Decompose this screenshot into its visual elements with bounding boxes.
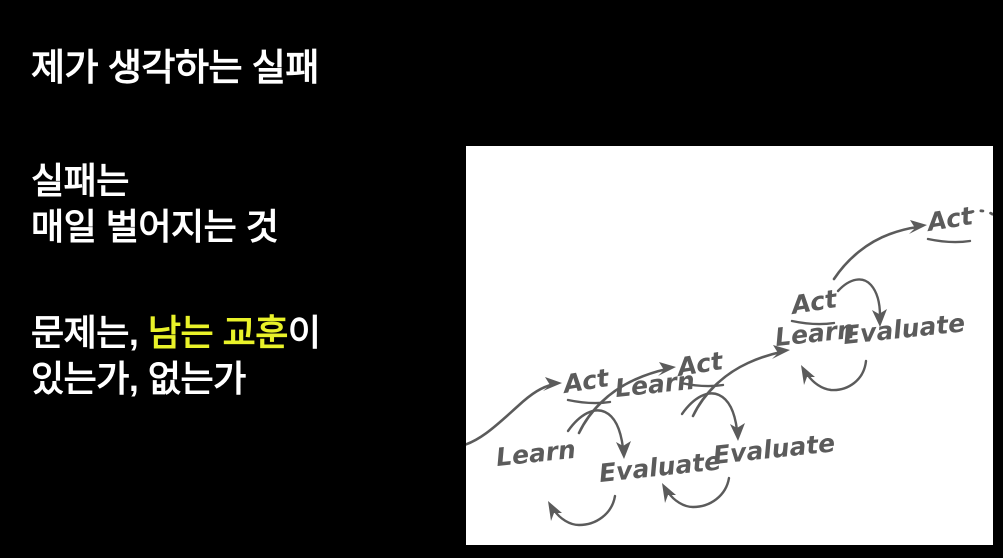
body-line-3-highlight: 남는 교훈 xyxy=(148,312,288,353)
body-line-3: 문제는, 남는 교훈이 xyxy=(31,310,441,356)
cycle-1-act-label: Act xyxy=(559,363,611,399)
cycle-1-act-to-evaluate-path xyxy=(568,410,623,448)
cycle-2-evaluate-label: Evaluate xyxy=(712,428,837,470)
cycle-2-evaluate-to-learn-path xyxy=(668,478,729,507)
cycle-3-act-to-evaluate-path xyxy=(838,279,880,316)
cycle-2-learn-label: Learn xyxy=(614,366,696,403)
entry-arrow-path xyxy=(466,384,554,446)
body-line-1: 실패는 xyxy=(31,158,441,204)
body-block-question: 문제는, 남는 교훈이 있는가, 없는가 xyxy=(31,310,441,402)
body-line-4: 있는가, 없는가 xyxy=(31,356,441,402)
cycle-3-act-label: Act xyxy=(787,284,839,320)
slide-canvas: 제가 생각하는 실패 실패는 매일 벌어지는 것 문제는, 남는 교훈이 있는가… xyxy=(0,0,1003,558)
continuation-dotted-path xyxy=(971,211,993,253)
cycle-3-learn-to-cycle-4-act-path xyxy=(834,227,918,279)
act-evaluate-learn-loop-diagram: Act Learn Evaluate Act Learn Evaluate xyxy=(466,146,993,545)
body-line-4-segment-1: 있는가, 없는가 xyxy=(31,358,246,399)
cycle-1-evaluate-to-learn-path xyxy=(554,496,615,525)
body-line-2: 매일 벌어지는 것 xyxy=(31,204,441,250)
body-line-3-segment-3: 이 xyxy=(288,312,321,353)
text-column: 제가 생각하는 실패 실패는 매일 벌어지는 것 문제는, 남는 교훈이 있는가… xyxy=(31,44,441,402)
cycle-4-act-label: Act xyxy=(923,201,975,237)
body-block-failure: 실패는 매일 벌어지는 것 xyxy=(31,158,441,250)
cycle-2-act-to-evaluate-path xyxy=(682,393,737,430)
cycle-4-act-underline xyxy=(928,239,970,242)
cycle-1-learn-label: Learn xyxy=(495,435,577,472)
entry-arrow-head xyxy=(543,377,562,391)
cycle-3-evaluate-label: Evaluate xyxy=(842,308,967,350)
body-line-3-segment-1: 문제는, xyxy=(31,312,148,353)
page-title: 제가 생각하는 실패 xyxy=(31,44,441,92)
cycle-3-evaluate-to-learn-path xyxy=(807,361,866,390)
cycle-1-evaluate-label: Evaluate xyxy=(598,446,723,488)
sketch-image-panel: Act Learn Evaluate Act Learn Evaluate xyxy=(466,146,993,545)
